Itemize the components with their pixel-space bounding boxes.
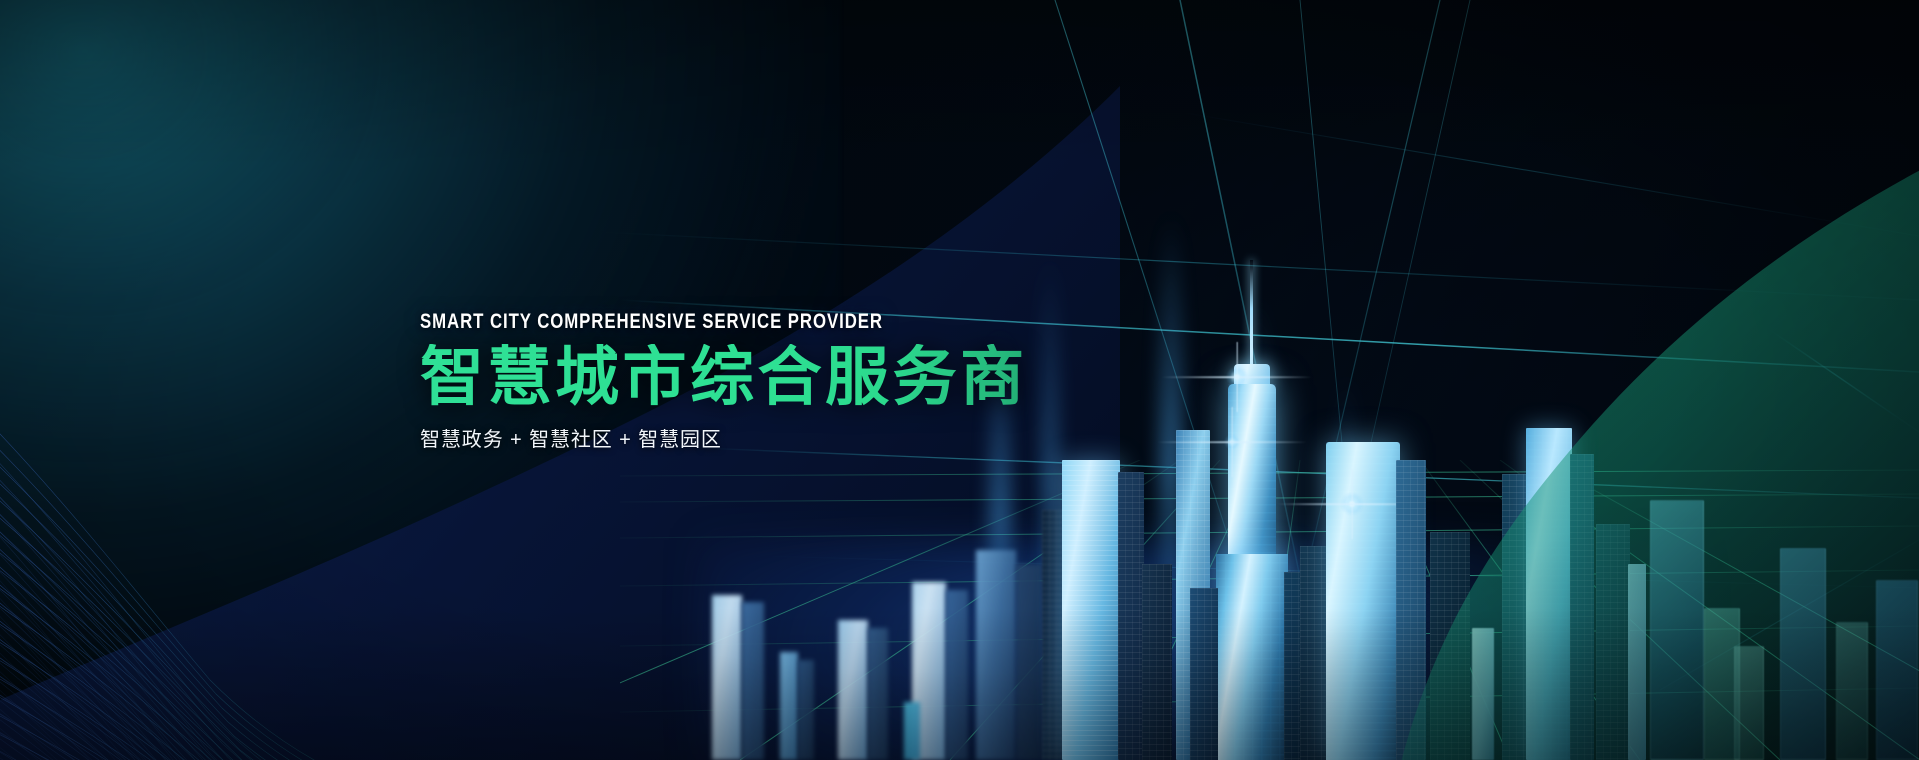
banner-headline: 智慧城市综合服务商 <box>420 344 1180 411</box>
building-block <box>780 652 798 760</box>
building-block <box>1734 646 1764 760</box>
building-block <box>1628 564 1646 760</box>
building-block <box>1780 548 1826 760</box>
building-tower <box>1118 472 1144 760</box>
building-block <box>868 628 888 760</box>
building-block <box>1876 580 1918 760</box>
tower-wing-left <box>1190 588 1218 760</box>
building-block <box>1472 628 1494 760</box>
smart-city-banner: SMART CITY COMPREHENSIVE SERVICE PROVIDE… <box>0 0 1919 760</box>
tower-shaft-lower <box>1216 554 1288 760</box>
banner-subline: 智慧政务 + 智慧社区 + 智慧园区 <box>420 423 1180 452</box>
building-block <box>1142 564 1172 760</box>
building-block <box>946 590 968 760</box>
building-block <box>1300 546 1326 760</box>
building-block <box>798 660 814 760</box>
building-tower <box>1570 454 1594 760</box>
building-block <box>712 595 742 760</box>
building-block <box>742 602 764 760</box>
building-block <box>1016 564 1042 760</box>
building-tower <box>1062 460 1120 760</box>
building-tower <box>1502 474 1528 760</box>
building-block <box>904 702 920 760</box>
building-block <box>1836 622 1868 760</box>
building-block <box>1430 532 1470 760</box>
banner-copy: SMART CITY COMPREHENSIVE SERVICE PROVIDE… <box>420 310 1180 452</box>
building-block <box>838 620 868 760</box>
tower-spire <box>1250 260 1253 368</box>
building-block <box>1650 500 1704 760</box>
tower-shaft-upper <box>1228 384 1276 570</box>
building-tower <box>1526 428 1572 760</box>
building-tower <box>1326 442 1400 760</box>
building-tower <box>1396 460 1426 760</box>
main-tower <box>1206 280 1298 760</box>
building-block <box>976 550 1016 760</box>
building-block <box>1596 524 1630 760</box>
banner-eyebrow: SMART CITY COMPREHENSIVE SERVICE PROVIDE… <box>420 310 1028 334</box>
